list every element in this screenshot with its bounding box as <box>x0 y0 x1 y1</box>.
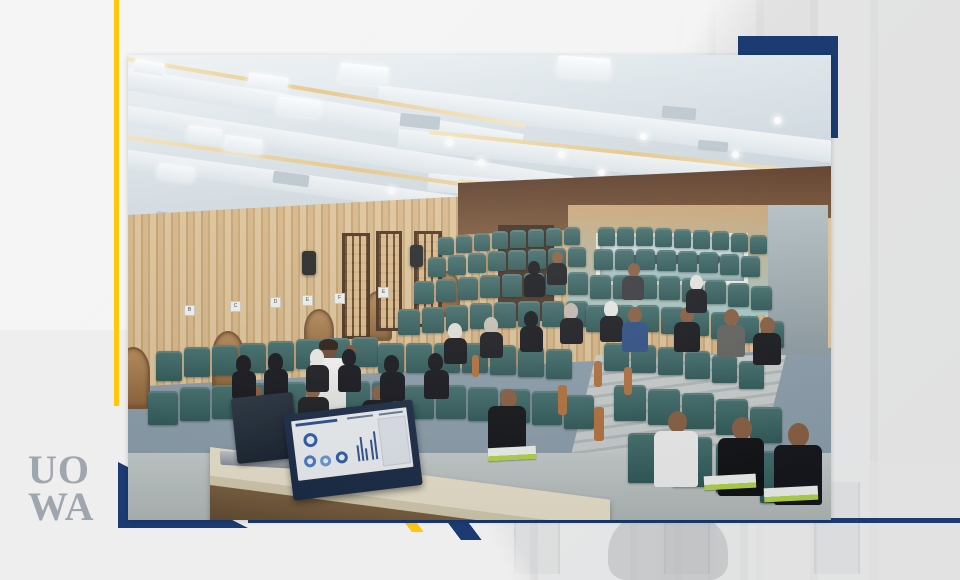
wall-speaker <box>302 251 316 275</box>
slide-donut-chart <box>335 451 348 464</box>
ceiling-downlight <box>446 139 453 146</box>
slide-subtitle-bar <box>379 411 403 416</box>
ceiling-downlight <box>598 169 605 176</box>
ceiling-downlight <box>774 117 781 124</box>
wall-arch-panel <box>128 347 150 409</box>
presentation-slide <box>291 407 413 481</box>
slide-bar <box>359 437 364 461</box>
slide-donut-chart <box>303 455 316 468</box>
lattice-screen <box>342 233 370 339</box>
ceiling-downlight <box>640 133 647 140</box>
lecture-hall-photo: B C D E F E F <box>128 55 831 520</box>
slide-side-panel <box>377 415 411 466</box>
uowa-logo: UO WA <box>28 452 116 530</box>
ceiling-downlight <box>732 151 739 158</box>
presentation-monitor <box>283 399 423 500</box>
ceiling-downlight <box>478 159 485 166</box>
ceiling-downlight <box>388 187 395 194</box>
slide-subtitle-bar <box>347 414 373 419</box>
row-sign: D <box>270 297 281 308</box>
row-sign: E <box>302 295 313 306</box>
slide-donut-chart <box>319 455 331 467</box>
slide-donut-chart <box>303 432 319 448</box>
yellow-vertical-rule <box>114 0 119 402</box>
slide-title-bar <box>295 419 337 427</box>
ceiling-downlight <box>558 151 565 158</box>
row-sign: C <box>230 301 241 312</box>
banner-canvas: UO WA <box>0 0 960 580</box>
slide-bar <box>365 448 368 460</box>
row-sign: F <box>334 293 345 304</box>
row-sign: E <box>378 287 389 298</box>
logo-line-2: WA <box>28 489 116 526</box>
row-sign: B <box>184 305 195 316</box>
ceiling-light-panel <box>557 55 610 79</box>
wall-speaker <box>410 245 423 267</box>
